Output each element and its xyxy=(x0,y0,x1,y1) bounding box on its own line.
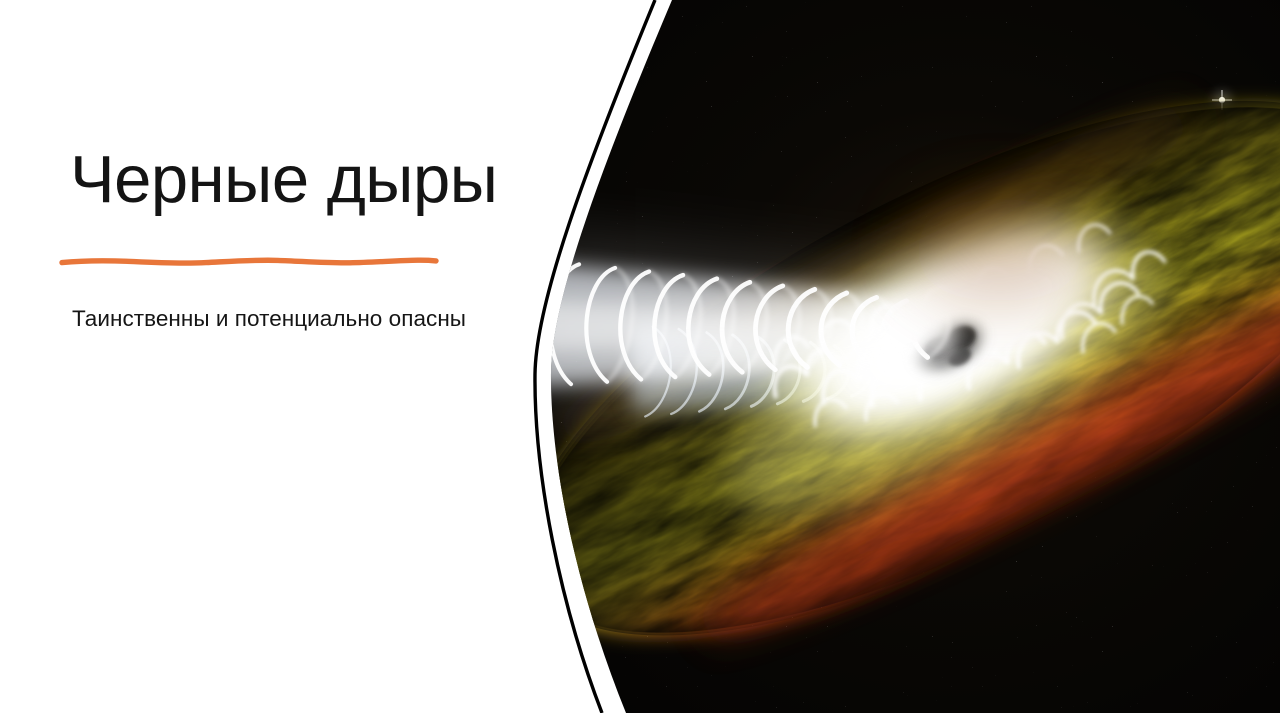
jet-disk-haze xyxy=(910,198,1090,302)
photo-content xyxy=(453,0,1280,713)
black-hole-illustration-svg xyxy=(0,0,1280,713)
black-hole-illustration xyxy=(0,0,1280,713)
slide: Черные дыры Таинственны и потенциально о… xyxy=(0,0,1280,713)
